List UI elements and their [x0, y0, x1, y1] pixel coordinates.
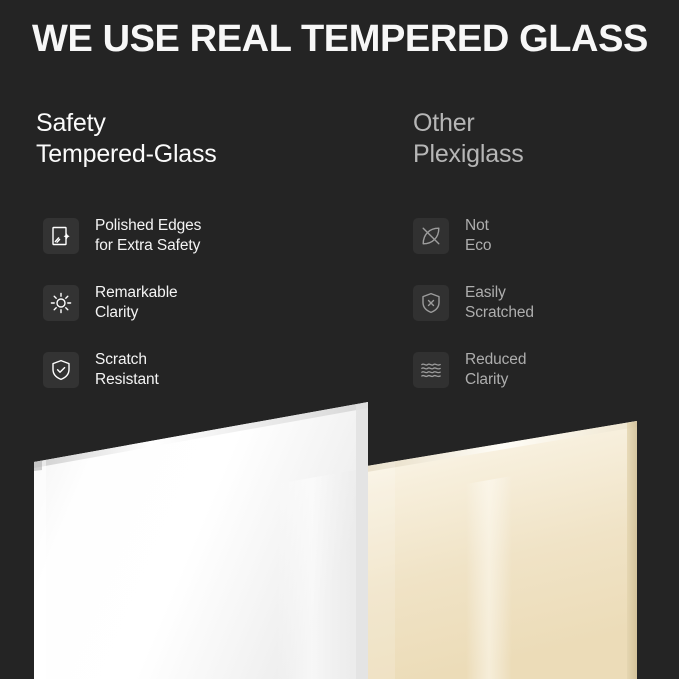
feature-label: Polished Edges for Extra Safety	[95, 216, 201, 256]
clear-tempered-glass-panel	[34, 402, 368, 679]
feature-list-tempered-glass: Polished Edges for Extra Safety Remarkab…	[43, 212, 383, 413]
yellowed-plexiglass-panel	[367, 421, 637, 679]
wavy-lines-icon	[413, 352, 449, 388]
feature-label: Easily Scratched	[465, 283, 534, 323]
feature-label: Remarkable Clarity	[95, 283, 178, 323]
feature-label: Not Eco	[465, 216, 491, 256]
feature-item: Easily Scratched	[413, 279, 668, 327]
page-title: WE USE REAL TEMPERED GLASS	[32, 20, 662, 58]
infographic-root: WE USE REAL TEMPERED GLASS Safety Temper…	[0, 0, 679, 679]
feature-label: Scratch Resistant	[95, 350, 159, 390]
feature-item: Polished Edges for Extra Safety	[43, 212, 383, 260]
shield-check-icon	[43, 352, 79, 388]
feature-item: Not Eco	[413, 212, 668, 260]
feature-label: Reduced Clarity	[465, 350, 526, 390]
feature-list-plexiglass: Not Eco Easily Scratched	[413, 212, 668, 413]
comparison-column-tempered-glass: Safety Tempered-Glass Polished Edges for…	[36, 108, 376, 171]
feature-item: Remarkable Clarity	[43, 279, 383, 327]
feature-item: Scratch Resistant	[43, 346, 383, 394]
column-title-plexiglass: Other Plexiglass	[413, 108, 668, 171]
leaf-crossed-out-icon	[413, 218, 449, 254]
glass-comparison-artwork	[0, 396, 679, 679]
feature-item: Reduced Clarity	[413, 346, 668, 394]
comparison-column-plexiglass: Other Plexiglass Not Eco	[413, 108, 668, 171]
glass-panels-illustration	[0, 396, 679, 679]
polished-edge-sparkle-icon	[43, 218, 79, 254]
sun-clarity-icon	[43, 285, 79, 321]
shield-x-icon	[413, 285, 449, 321]
column-title-tempered-glass: Safety Tempered-Glass	[36, 108, 376, 171]
